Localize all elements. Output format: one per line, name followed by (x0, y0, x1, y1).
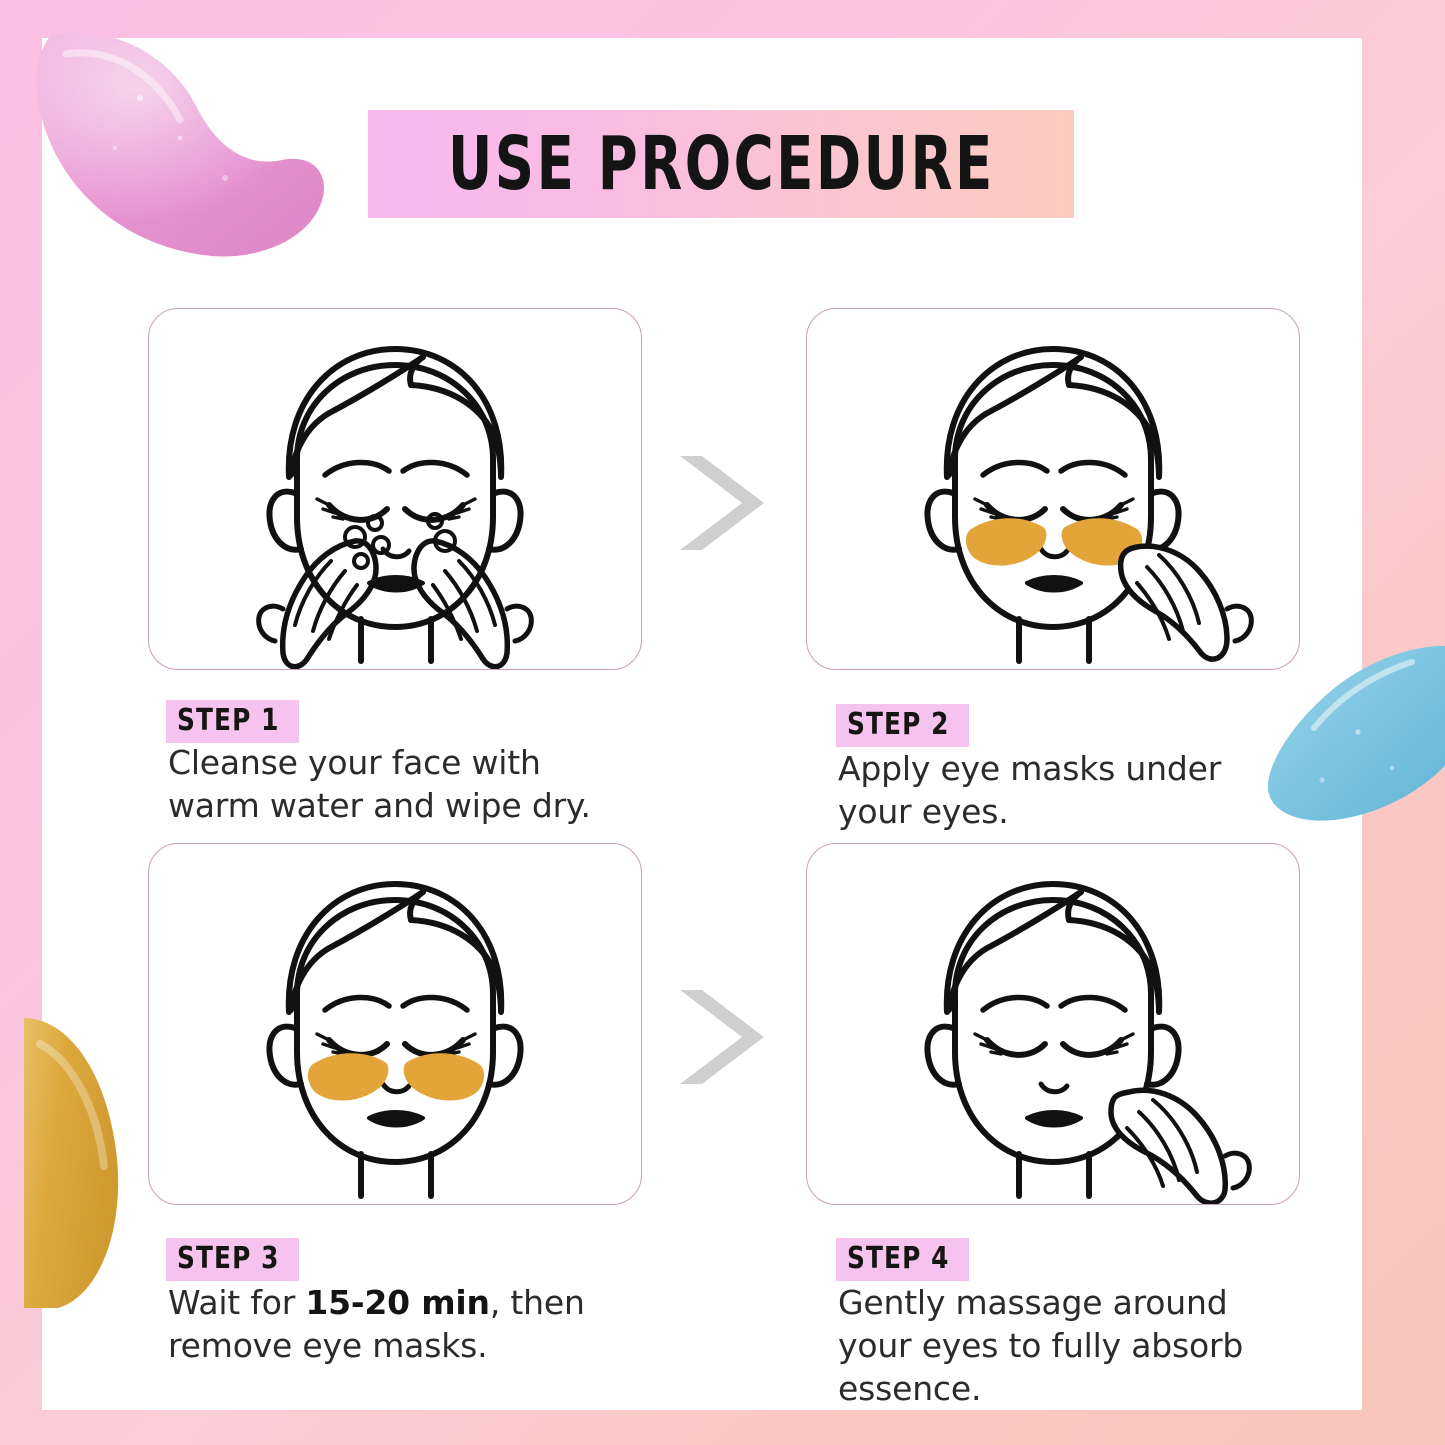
step-3-text-before: Wait for (168, 1283, 305, 1322)
step-1-illustration-panel (148, 308, 642, 670)
face-washing-illustration (149, 309, 641, 669)
wait-with-eye-mask-illustration (149, 844, 641, 1204)
pink-gel-patch-icon (20, 28, 330, 263)
step-4-description: Gently massage around your eyes to fully… (838, 1282, 1308, 1411)
step-3-label-badge: STEP 3 (166, 1238, 299, 1281)
step-4-text: Gently massage around your eyes to fully… (838, 1283, 1243, 1408)
arrow-step3-to-step4-icon (672, 982, 772, 1092)
page-title: USE PROCEDURE (448, 121, 995, 207)
step-4-label-badge: STEP 4 (836, 1238, 969, 1281)
step-4-illustration-panel (806, 843, 1300, 1205)
step-3-description: Wait for 15-20 min, then remove eye mask… (168, 1282, 678, 1368)
step-3-label: STEP 3 (177, 1241, 280, 1276)
step-1-label-badge: STEP 1 (166, 700, 299, 743)
gold-gel-patch-icon (22, 1000, 142, 1310)
eye-patch-right (404, 1053, 484, 1100)
apply-eye-mask-illustration (807, 309, 1299, 669)
step-2-description: Apply eye masks under your eyes. (838, 748, 1268, 834)
title-banner: USE PROCEDURE (368, 110, 1074, 218)
step-1-label: STEP 1 (177, 703, 280, 738)
eye-patch-left (308, 1053, 388, 1100)
step-3-text-bold: 15-20 min (305, 1283, 489, 1322)
step-2-label-badge: STEP 2 (836, 704, 969, 747)
step-1-description: Cleanse your face with warm water and wi… (168, 742, 638, 828)
blue-gel-patch-icon (1262, 640, 1445, 825)
massage-illustration (807, 844, 1299, 1204)
step-4-label: STEP 4 (847, 1241, 950, 1276)
eye-patch-left (966, 518, 1046, 565)
step-1-text: Cleanse your face with warm water and wi… (168, 743, 591, 825)
step-2-label: STEP 2 (847, 707, 950, 742)
step-2-illustration-panel (806, 308, 1300, 670)
arrow-step1-to-step2-icon (672, 448, 772, 558)
poster-root: USE PROCEDURE (0, 0, 1445, 1445)
step-3-illustration-panel (148, 843, 642, 1205)
step-2-text: Apply eye masks under your eyes. (838, 749, 1221, 831)
